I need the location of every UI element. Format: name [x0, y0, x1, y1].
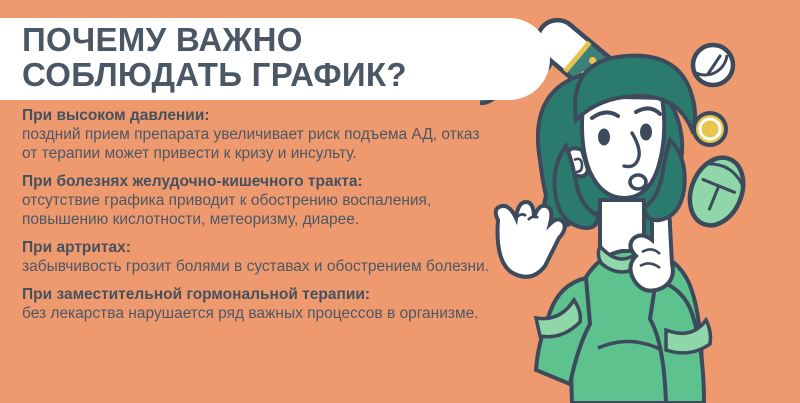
block-heading: При болезнях желудочно-кишечного тракта: — [22, 172, 492, 191]
ring-tablet-yellow — [694, 113, 726, 145]
block-heading: При артритах: — [22, 238, 492, 257]
text-block-hormone-therapy: При заместительной гормональной терапии:… — [22, 285, 492, 323]
text-block-arthritis: При артритах: забывчивость грозит болями… — [22, 238, 492, 276]
text-block-gastrointestinal: При болезнях желудочно-кишечного тракта:… — [22, 172, 492, 229]
block-heading: При высоком давлении: — [22, 106, 492, 125]
block-body: без лекарства нарушается ряд важных проц… — [22, 304, 492, 323]
infographic-poster: ПОЧЕМУ ВАЖНО СОБЛЮДАТЬ ГРАФИК? При высок… — [0, 0, 800, 403]
block-body: поздний прием препарата увеличивает риск… — [22, 125, 492, 163]
title-line-1: ПОЧЕМУ ВАЖНО — [22, 22, 407, 57]
body-text-container: При высоком давлении: поздний прием преп… — [22, 106, 492, 323]
round-tablet-white — [693, 45, 733, 85]
text-block-hypertension: При высоком давлении: поздний прием преп… — [22, 106, 492, 163]
block-heading: При заместительной гормональной терапии: — [22, 285, 492, 304]
page-title: ПОЧЕМУ ВАЖНО СОБЛЮДАТЬ ГРАФИК? — [22, 22, 407, 92]
woman-character — [496, 56, 711, 403]
block-body: отсутствие графика приводит к обострению… — [22, 191, 492, 229]
title-line-2: СОБЛЮДАТЬ ГРАФИК? — [22, 57, 407, 92]
block-body: забывчивость грозит болями в суставах и … — [22, 257, 492, 276]
oval-tablet-green — [680, 150, 753, 234]
